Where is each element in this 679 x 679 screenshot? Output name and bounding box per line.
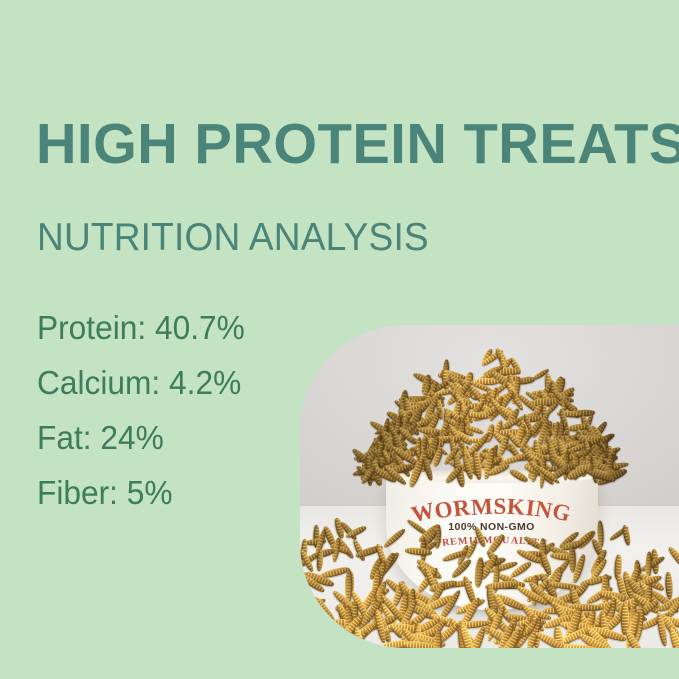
scattered-larvae bbox=[300, 516, 679, 648]
nutrition-fact-list: Protein: 40.7% Calcium: 4.2% Fat: 24% Fi… bbox=[37, 300, 337, 520]
page-title: HIGH PROTEIN TREATS bbox=[36, 116, 679, 173]
list-item: Protein: 40.7% bbox=[37, 300, 325, 355]
list-item: Fat: 24% bbox=[37, 410, 325, 465]
page-subtitle: NUTRITION ANALYSIS bbox=[37, 218, 429, 257]
nutrition-poster: HIGH PROTEIN TREATS NUTRITION ANALYSIS P… bbox=[0, 0, 679, 679]
larvae-pile bbox=[366, 347, 614, 487]
list-item: Fiber: 5% bbox=[37, 465, 325, 520]
list-item: Calcium: 4.2% bbox=[37, 355, 325, 410]
brand-name: WORMSKING bbox=[386, 495, 598, 518]
product-photo: WORMSKING 100% NON-GMO PREMIUM QUALITY bbox=[300, 325, 679, 648]
photo-backdrop: WORMSKING 100% NON-GMO PREMIUM QUALITY bbox=[300, 325, 679, 648]
